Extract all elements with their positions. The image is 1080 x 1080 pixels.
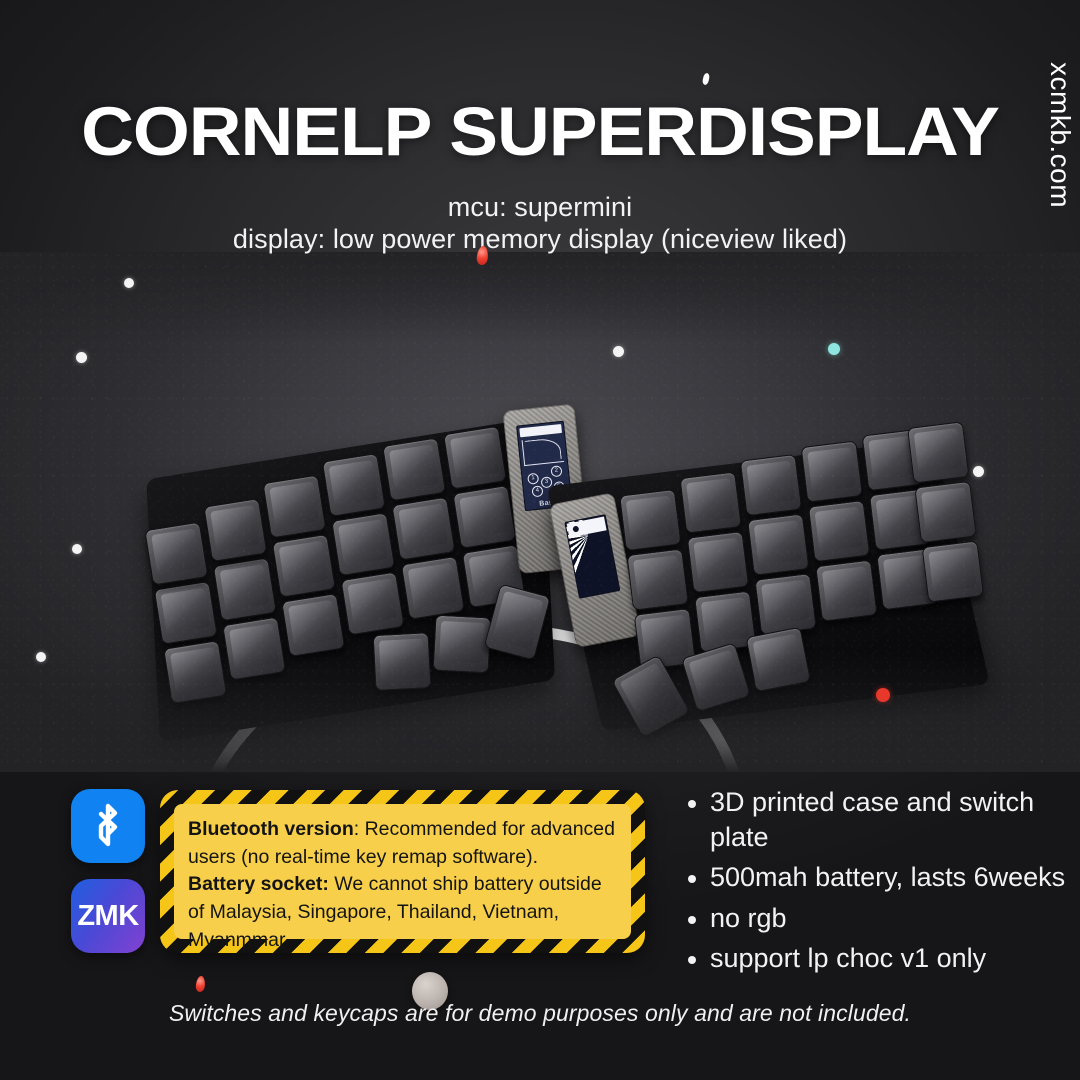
keycap: [619, 489, 681, 551]
keycap: [754, 573, 816, 635]
warning-box-content: Bluetooth version: Recommended for advan…: [174, 804, 631, 939]
photo-fade-top: [0, 252, 1080, 342]
keycap: [341, 571, 405, 635]
list-item: support lp choc v1 only: [672, 941, 1072, 976]
zmk-badge[interactable]: ZMK: [71, 879, 145, 953]
list-item: 3D printed case and switch plate: [672, 785, 1072, 854]
keycap: [382, 437, 446, 501]
keycap: [808, 500, 870, 562]
warning-line-1: Bluetooth version: Recommended for advan…: [188, 816, 617, 871]
bluetooth-icon: [88, 803, 128, 849]
decor-droplet-red: [195, 976, 206, 993]
list-item: 500mah battery, lasts 6weeks: [672, 860, 1072, 895]
keycap: [203, 498, 267, 562]
layer-circle-4: 4: [531, 485, 543, 497]
zmk-logo-text: ZMK: [77, 900, 138, 933]
warning-label-bluetooth: Bluetooth version: [188, 818, 354, 840]
disclaimer-text: Switches and keycaps are for demo purpos…: [0, 1000, 1080, 1027]
watermark-xcmkb: xcmkb.com: [1044, 62, 1076, 208]
keycap: [272, 534, 336, 598]
list-item: no rgb: [672, 901, 1072, 936]
keycap: [401, 556, 465, 620]
decor-dot-white: [124, 278, 134, 288]
keycap: [144, 522, 208, 586]
keycap: [907, 421, 969, 483]
subtitle-display: display: low power memory display (nicev…: [0, 224, 1080, 255]
warning-label-battery: Battery socket:: [188, 873, 329, 895]
warning-box: Bluetooth version: Recommended for advan…: [160, 790, 645, 953]
keycap: [443, 426, 507, 490]
bluetooth-badge[interactable]: [71, 789, 145, 863]
art-dot: [572, 526, 579, 533]
decor-dot-teal: [828, 343, 840, 355]
keycap: [322, 453, 386, 517]
keycap: [626, 548, 688, 610]
keycap: [679, 471, 741, 533]
keycap: [687, 531, 749, 593]
graph-icon: [522, 436, 564, 466]
keycap: [914, 481, 976, 543]
keycap: [747, 513, 809, 575]
title-tick-decoration: [702, 73, 710, 86]
warning-line-2: Battery socket: We cannot ship battery o…: [188, 871, 617, 954]
keycap: [922, 540, 984, 602]
product-photo: 1 2 3 4 5 Base: [0, 252, 1080, 772]
decor-dot-red: [876, 688, 890, 702]
keycap: [740, 454, 802, 516]
keycap: [452, 485, 516, 549]
decor-dot-white: [973, 466, 984, 477]
keycap: [262, 475, 326, 539]
keycap: [801, 440, 863, 502]
feature-list: 3D printed case and switch plate 500mah …: [672, 785, 1072, 982]
keycap: [213, 557, 277, 621]
decor-dot-white: [613, 346, 624, 357]
subtitle-mcu: mcu: supermini: [0, 192, 1080, 223]
page-title: CORNELP SUPERDISPLAY: [0, 92, 1080, 171]
status-bar: [519, 424, 562, 437]
keycap: [154, 581, 218, 645]
layer-circle-1: 1: [527, 473, 539, 485]
poster-root: 1 2 3 4 5 Base: [0, 0, 1080, 1080]
keycap: [815, 559, 877, 621]
oled-display-right: [564, 514, 620, 599]
decor-dot-white: [72, 544, 82, 554]
keycap: [331, 512, 395, 576]
keycap: [391, 497, 455, 561]
decor-dot-white: [76, 352, 87, 363]
photo-fade-bottom: [0, 652, 1080, 772]
decor-dot-white: [36, 652, 46, 662]
keycap: [281, 593, 345, 657]
